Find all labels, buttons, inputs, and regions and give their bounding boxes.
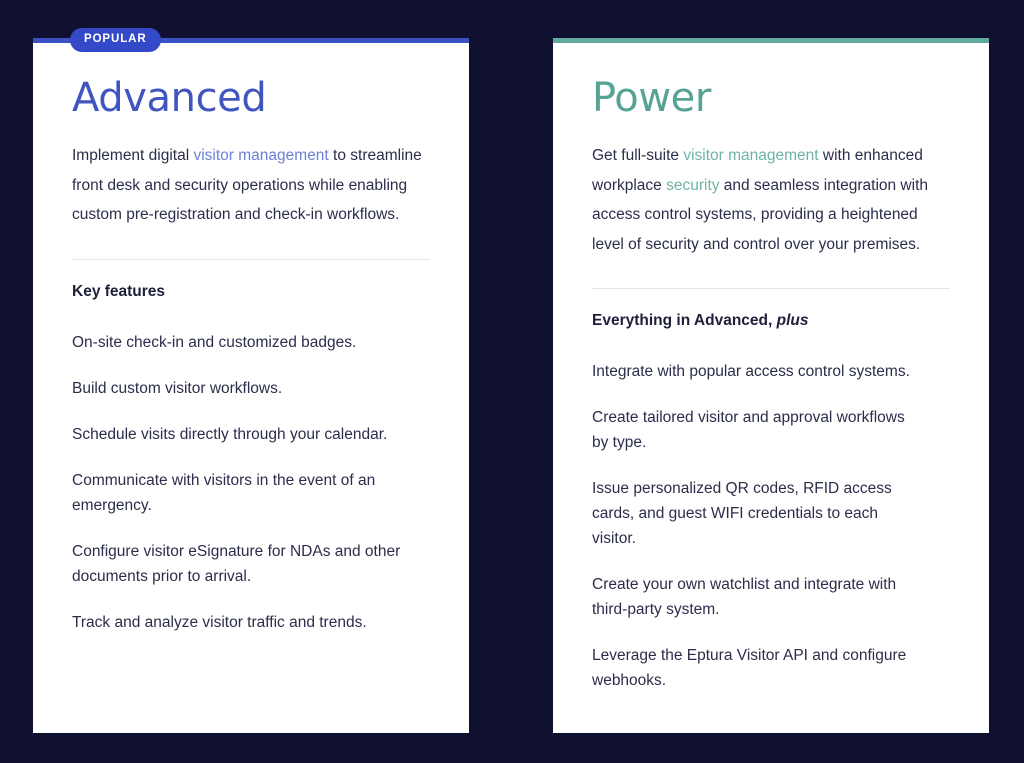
plan-description-advanced: Implement digital visitor management to … xyxy=(72,141,424,230)
plan-card-advanced[interactable]: Advanced Implement digital visitor manag… xyxy=(33,38,469,733)
plan-title-advanced: Advanced xyxy=(72,77,430,119)
plan-description-advanced-lead: Implement digital xyxy=(72,147,193,164)
list-item: Create your own watchlist and integrate … xyxy=(592,572,922,622)
divider-power xyxy=(592,288,950,289)
features-heading-advanced-text: Key features xyxy=(72,283,165,300)
list-item: Track and analyze visitor traffic and tr… xyxy=(72,610,412,635)
plan-description-power-lead: Get full-suite xyxy=(592,147,683,164)
list-item: Issue personalized QR codes, RFID access… xyxy=(592,476,922,551)
popular-badge: POPULAR xyxy=(70,28,161,52)
features-heading-power: Everything in Advanced, plus xyxy=(592,311,950,331)
list-item: Schedule visits directly through your ca… xyxy=(72,422,412,447)
visitor-management-link-advanced[interactable]: visitor management xyxy=(193,147,328,164)
plan-title-power: Power xyxy=(592,77,950,119)
list-item: Create tailored visitor and approval wor… xyxy=(592,405,922,455)
list-item: On-site check-in and customized badges. xyxy=(72,330,412,355)
features-heading-power-emphasis: plus xyxy=(777,312,809,329)
plan-card-power-content: Power Get full-suite visitor management … xyxy=(553,43,989,733)
plan-description-power: Get full-suite visitor management with e… xyxy=(592,141,944,259)
list-item: Integrate with popular access control sy… xyxy=(592,359,922,384)
list-item: Build custom visitor workflows. xyxy=(72,376,412,401)
plan-card-advanced-content: Advanced Implement digital visitor manag… xyxy=(33,43,469,733)
visitor-management-link-power[interactable]: visitor management xyxy=(683,147,818,164)
plan-card-power[interactable]: Power Get full-suite visitor management … xyxy=(553,38,989,733)
list-item: Communicate with visitors in the event o… xyxy=(72,468,412,518)
list-item: Configure visitor eSignature for NDAs an… xyxy=(72,539,412,589)
features-list-advanced: On-site check-in and customized badges. … xyxy=(72,330,430,635)
pricing-plans-section: POPULAR Advanced Implement digital visit… xyxy=(0,0,1024,763)
security-link-power[interactable]: security xyxy=(666,177,719,194)
features-heading-advanced: Key features xyxy=(72,282,430,302)
features-list-power: Integrate with popular access control sy… xyxy=(592,359,950,693)
features-heading-power-text: Everything in Advanced, xyxy=(592,312,772,329)
divider-advanced xyxy=(72,259,430,260)
list-item: Leverage the Eptura Visitor API and conf… xyxy=(592,643,922,693)
